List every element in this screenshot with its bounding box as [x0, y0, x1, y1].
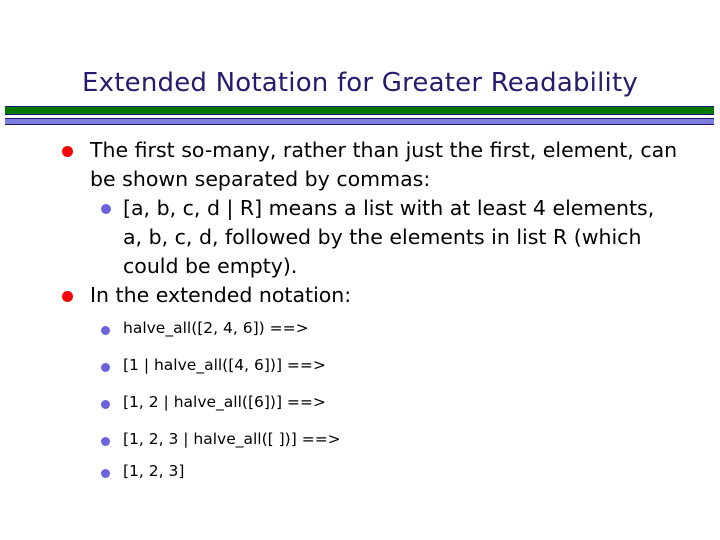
blue-disc-bullet-icon: [101, 326, 110, 335]
list-item: [1, 2, 3]: [0, 462, 720, 494]
blue-disc-bullet-icon: [101, 204, 111, 214]
title-divider: [5, 106, 714, 125]
list-item-label: halve_all([2, 4, 6]) ==>: [123, 319, 309, 337]
list-item: halve_all([2, 4, 6]) ==>: [0, 319, 720, 356]
page-title: Extended Notation for Greater Readabilit…: [0, 68, 720, 98]
slide: Extended Notation for Greater Readabilit…: [0, 0, 720, 540]
divider-green-bar: [5, 106, 714, 115]
list-item-label: [1, 2, 3 | halve_all([ ])] ==>: [123, 430, 341, 448]
list-item-label: In the extended notation:: [90, 281, 680, 310]
list-item: [a, b, c, d | R] means a list with at le…: [0, 194, 720, 281]
blue-disc-bullet-icon: [101, 437, 110, 446]
divider-blue-bar: [5, 118, 714, 125]
blue-disc-bullet-icon: [101, 400, 110, 409]
red-disc-bullet-icon: [62, 291, 73, 302]
spacer: [0, 310, 720, 319]
list-item-label: The first so-many, rather than just the …: [90, 136, 680, 194]
list-item: [1, 2 | halve_all([6])] ==>: [0, 393, 720, 430]
list-item-label: [1 | halve_all([4, 6])] ==>: [123, 356, 326, 374]
list-item-label: [1, 2, 3]: [123, 462, 184, 480]
list-item-label: [1, 2 | halve_all([6])] ==>: [123, 393, 326, 411]
list-item: The first so-many, rather than just the …: [0, 136, 720, 194]
blue-disc-bullet-icon: [101, 363, 110, 372]
blue-disc-bullet-icon: [101, 469, 110, 478]
slide-body: The first so-many, rather than just the …: [0, 136, 720, 494]
list-item: [1, 2, 3 | halve_all([ ])] ==>: [0, 430, 720, 462]
list-item-label: [a, b, c, d | R] means a list with at le…: [123, 196, 654, 278]
red-disc-bullet-icon: [62, 146, 73, 157]
list-item: In the extended notation:: [0, 281, 720, 310]
list-item: [1 | halve_all([4, 6])] ==>: [0, 356, 720, 393]
